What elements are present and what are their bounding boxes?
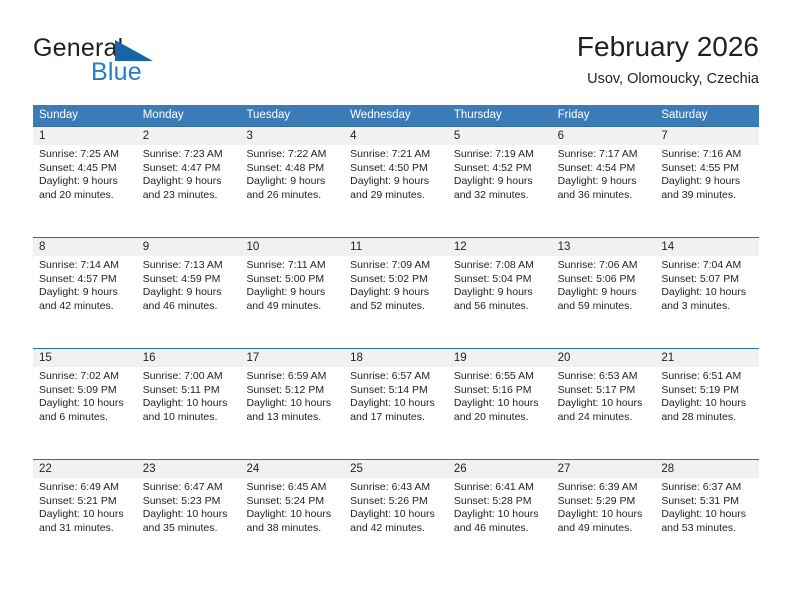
day-number: 6	[552, 127, 656, 145]
day-cell[interactable]: 3 Sunrise: 7:22 AM Sunset: 4:48 PM Dayli…	[240, 127, 344, 237]
day-details: Sunrise: 7:14 AM Sunset: 4:57 PM Dayligh…	[33, 256, 137, 313]
day-number: 23	[137, 460, 241, 478]
weekday-header-thursday: Thursday	[448, 105, 552, 126]
day-details: Sunrise: 7:02 AM Sunset: 5:09 PM Dayligh…	[33, 367, 137, 424]
daylight-text: Daylight: 9 hours and 49 minutes.	[246, 286, 338, 313]
day-number: 10	[240, 238, 344, 256]
day-cell[interactable]: 18 Sunrise: 6:57 AM Sunset: 5:14 PM Dayl…	[344, 349, 448, 459]
sunset-text: Sunset: 5:16 PM	[454, 384, 546, 398]
weekday-header-monday: Monday	[137, 105, 241, 126]
day-cell[interactable]: 13 Sunrise: 7:06 AM Sunset: 5:06 PM Dayl…	[552, 238, 656, 348]
day-number: 2	[137, 127, 241, 145]
day-number: 1	[33, 127, 137, 145]
sunrise-text: Sunrise: 6:49 AM	[39, 481, 131, 495]
day-details: Sunrise: 6:45 AM Sunset: 5:24 PM Dayligh…	[240, 478, 344, 535]
day-number: 3	[240, 127, 344, 145]
day-cell[interactable]: 27 Sunrise: 6:39 AM Sunset: 5:29 PM Dayl…	[552, 460, 656, 570]
day-cell[interactable]: 17 Sunrise: 6:59 AM Sunset: 5:12 PM Dayl…	[240, 349, 344, 459]
day-cell[interactable]: 28 Sunrise: 6:37 AM Sunset: 5:31 PM Dayl…	[655, 460, 759, 570]
day-cell[interactable]: 4 Sunrise: 7:21 AM Sunset: 4:50 PM Dayli…	[344, 127, 448, 237]
week-row: 22 Sunrise: 6:49 AM Sunset: 5:21 PM Dayl…	[33, 459, 759, 570]
day-cell[interactable]: 1 Sunrise: 7:25 AM Sunset: 4:45 PM Dayli…	[33, 127, 137, 237]
sunrise-text: Sunrise: 7:09 AM	[350, 259, 442, 273]
day-number: 5	[448, 127, 552, 145]
page-header: General Blue February 2026 Usov, Olomouc…	[33, 30, 759, 100]
sunset-text: Sunset: 5:26 PM	[350, 495, 442, 509]
daylight-text: Daylight: 10 hours and 38 minutes.	[246, 508, 338, 535]
daylight-text: Daylight: 10 hours and 13 minutes.	[246, 397, 338, 424]
daylight-text: Daylight: 9 hours and 56 minutes.	[454, 286, 546, 313]
sunrise-text: Sunrise: 6:51 AM	[661, 370, 753, 384]
sunset-text: Sunset: 5:17 PM	[558, 384, 650, 398]
day-details: Sunrise: 7:00 AM Sunset: 5:11 PM Dayligh…	[137, 367, 241, 424]
daylight-text: Daylight: 10 hours and 3 minutes.	[661, 286, 753, 313]
day-number: 13	[552, 238, 656, 256]
day-number: 28	[655, 460, 759, 478]
day-details: Sunrise: 7:21 AM Sunset: 4:50 PM Dayligh…	[344, 145, 448, 202]
day-details: Sunrise: 6:41 AM Sunset: 5:28 PM Dayligh…	[448, 478, 552, 535]
sunrise-text: Sunrise: 7:13 AM	[143, 259, 235, 273]
sunrise-text: Sunrise: 7:11 AM	[246, 259, 338, 273]
day-number: 18	[344, 349, 448, 367]
sunrise-text: Sunrise: 7:17 AM	[558, 148, 650, 162]
week-row: 15 Sunrise: 7:02 AM Sunset: 5:09 PM Dayl…	[33, 348, 759, 459]
sunset-text: Sunset: 4:54 PM	[558, 162, 650, 176]
week-row: 8 Sunrise: 7:14 AM Sunset: 4:57 PM Dayli…	[33, 237, 759, 348]
daylight-text: Daylight: 9 hours and 20 minutes.	[39, 175, 131, 202]
sunset-text: Sunset: 4:52 PM	[454, 162, 546, 176]
calendar-page: General Blue February 2026 Usov, Olomouc…	[0, 0, 792, 612]
day-cell[interactable]: 9 Sunrise: 7:13 AM Sunset: 4:59 PM Dayli…	[137, 238, 241, 348]
brand-logo[interactable]: General Blue	[33, 34, 253, 90]
day-details: Sunrise: 7:23 AM Sunset: 4:47 PM Dayligh…	[137, 145, 241, 202]
sunrise-text: Sunrise: 7:14 AM	[39, 259, 131, 273]
sunset-text: Sunset: 5:28 PM	[454, 495, 546, 509]
day-cell[interactable]: 6 Sunrise: 7:17 AM Sunset: 4:54 PM Dayli…	[552, 127, 656, 237]
day-number: 26	[448, 460, 552, 478]
day-details: Sunrise: 7:22 AM Sunset: 4:48 PM Dayligh…	[240, 145, 344, 202]
sunrise-text: Sunrise: 7:23 AM	[143, 148, 235, 162]
sunset-text: Sunset: 5:29 PM	[558, 495, 650, 509]
week-row: 1 Sunrise: 7:25 AM Sunset: 4:45 PM Dayli…	[33, 126, 759, 237]
day-number: 11	[344, 238, 448, 256]
day-number: 19	[448, 349, 552, 367]
day-details: Sunrise: 6:57 AM Sunset: 5:14 PM Dayligh…	[344, 367, 448, 424]
daylight-text: Daylight: 9 hours and 29 minutes.	[350, 175, 442, 202]
daylight-text: Daylight: 10 hours and 46 minutes.	[454, 508, 546, 535]
day-number: 12	[448, 238, 552, 256]
day-cell[interactable]: 25 Sunrise: 6:43 AM Sunset: 5:26 PM Dayl…	[344, 460, 448, 570]
sunrise-text: Sunrise: 7:19 AM	[454, 148, 546, 162]
day-details: Sunrise: 6:53 AM Sunset: 5:17 PM Dayligh…	[552, 367, 656, 424]
sunrise-text: Sunrise: 6:53 AM	[558, 370, 650, 384]
daylight-text: Daylight: 10 hours and 24 minutes.	[558, 397, 650, 424]
sunrise-text: Sunrise: 6:43 AM	[350, 481, 442, 495]
day-details: Sunrise: 7:08 AM Sunset: 5:04 PM Dayligh…	[448, 256, 552, 313]
sunrise-text: Sunrise: 6:39 AM	[558, 481, 650, 495]
day-details: Sunrise: 6:49 AM Sunset: 5:21 PM Dayligh…	[33, 478, 137, 535]
sunset-text: Sunset: 5:21 PM	[39, 495, 131, 509]
sunrise-text: Sunrise: 7:00 AM	[143, 370, 235, 384]
daylight-text: Daylight: 9 hours and 42 minutes.	[39, 286, 131, 313]
day-cell[interactable]: 23 Sunrise: 6:47 AM Sunset: 5:23 PM Dayl…	[137, 460, 241, 570]
day-number: 27	[552, 460, 656, 478]
daylight-text: Daylight: 10 hours and 53 minutes.	[661, 508, 753, 535]
sunrise-text: Sunrise: 6:55 AM	[454, 370, 546, 384]
day-details: Sunrise: 6:55 AM Sunset: 5:16 PM Dayligh…	[448, 367, 552, 424]
sunrise-text: Sunrise: 6:41 AM	[454, 481, 546, 495]
daylight-text: Daylight: 9 hours and 32 minutes.	[454, 175, 546, 202]
daylight-text: Daylight: 9 hours and 52 minutes.	[350, 286, 442, 313]
day-number: 21	[655, 349, 759, 367]
sunset-text: Sunset: 4:59 PM	[143, 273, 235, 287]
sunrise-text: Sunrise: 7:02 AM	[39, 370, 131, 384]
weekday-header-row: Sunday Monday Tuesday Wednesday Thursday…	[33, 105, 759, 126]
day-number: 4	[344, 127, 448, 145]
sunset-text: Sunset: 5:02 PM	[350, 273, 442, 287]
sunset-text: Sunset: 5:00 PM	[246, 273, 338, 287]
day-number: 22	[33, 460, 137, 478]
sunset-text: Sunset: 5:19 PM	[661, 384, 753, 398]
day-details: Sunrise: 7:11 AM Sunset: 5:00 PM Dayligh…	[240, 256, 344, 313]
sunset-text: Sunset: 5:24 PM	[246, 495, 338, 509]
sunset-text: Sunset: 5:12 PM	[246, 384, 338, 398]
day-details: Sunrise: 6:37 AM Sunset: 5:31 PM Dayligh…	[655, 478, 759, 535]
day-details: Sunrise: 7:09 AM Sunset: 5:02 PM Dayligh…	[344, 256, 448, 313]
daylight-text: Daylight: 9 hours and 26 minutes.	[246, 175, 338, 202]
day-cell[interactable]: 5 Sunrise: 7:19 AM Sunset: 4:52 PM Dayli…	[448, 127, 552, 237]
sunset-text: Sunset: 4:45 PM	[39, 162, 131, 176]
day-cell[interactable]: 26 Sunrise: 6:41 AM Sunset: 5:28 PM Dayl…	[448, 460, 552, 570]
sunrise-text: Sunrise: 7:22 AM	[246, 148, 338, 162]
day-number: 24	[240, 460, 344, 478]
sunset-text: Sunset: 5:07 PM	[661, 273, 753, 287]
day-number: 8	[33, 238, 137, 256]
daylight-text: Daylight: 10 hours and 28 minutes.	[661, 397, 753, 424]
sunset-text: Sunset: 5:11 PM	[143, 384, 235, 398]
title-block: February 2026 Usov, Olomoucky, Czechia	[577, 30, 759, 88]
day-number: 25	[344, 460, 448, 478]
sunrise-text: Sunrise: 7:06 AM	[558, 259, 650, 273]
day-cell[interactable]: 12 Sunrise: 7:08 AM Sunset: 5:04 PM Dayl…	[448, 238, 552, 348]
weekday-header-friday: Friday	[552, 105, 656, 126]
day-cell[interactable]: 22 Sunrise: 6:49 AM Sunset: 5:21 PM Dayl…	[33, 460, 137, 570]
day-cell[interactable]: 11 Sunrise: 7:09 AM Sunset: 5:02 PM Dayl…	[344, 238, 448, 348]
sunrise-text: Sunrise: 6:45 AM	[246, 481, 338, 495]
weekday-header-saturday: Saturday	[655, 105, 759, 126]
day-cell[interactable]: 20 Sunrise: 6:53 AM Sunset: 5:17 PM Dayl…	[552, 349, 656, 459]
day-number: 16	[137, 349, 241, 367]
day-details: Sunrise: 6:59 AM Sunset: 5:12 PM Dayligh…	[240, 367, 344, 424]
sunrise-text: Sunrise: 7:25 AM	[39, 148, 131, 162]
daylight-text: Daylight: 10 hours and 20 minutes.	[454, 397, 546, 424]
daylight-text: Daylight: 10 hours and 42 minutes.	[350, 508, 442, 535]
day-cell[interactable]: 10 Sunrise: 7:11 AM Sunset: 5:00 PM Dayl…	[240, 238, 344, 348]
sunrise-text: Sunrise: 7:08 AM	[454, 259, 546, 273]
daylight-text: Daylight: 10 hours and 10 minutes.	[143, 397, 235, 424]
location-subtitle: Usov, Olomoucky, Czechia	[577, 70, 759, 88]
sunrise-text: Sunrise: 6:57 AM	[350, 370, 442, 384]
sunrise-text: Sunrise: 7:16 AM	[661, 148, 753, 162]
day-number: 20	[552, 349, 656, 367]
weekday-header-wednesday: Wednesday	[344, 105, 448, 126]
daylight-text: Daylight: 9 hours and 36 minutes.	[558, 175, 650, 202]
calendar-grid: Sunday Monday Tuesday Wednesday Thursday…	[33, 105, 759, 570]
day-details: Sunrise: 7:13 AM Sunset: 4:59 PM Dayligh…	[137, 256, 241, 313]
day-details: Sunrise: 6:43 AM Sunset: 5:26 PM Dayligh…	[344, 478, 448, 535]
sunrise-text: Sunrise: 7:21 AM	[350, 148, 442, 162]
sunrise-text: Sunrise: 6:37 AM	[661, 481, 753, 495]
day-details: Sunrise: 6:39 AM Sunset: 5:29 PM Dayligh…	[552, 478, 656, 535]
sunset-text: Sunset: 5:23 PM	[143, 495, 235, 509]
weekday-header-tuesday: Tuesday	[240, 105, 344, 126]
day-details: Sunrise: 7:17 AM Sunset: 4:54 PM Dayligh…	[552, 145, 656, 202]
sunset-text: Sunset: 5:09 PM	[39, 384, 131, 398]
day-cell[interactable]: 24 Sunrise: 6:45 AM Sunset: 5:24 PM Dayl…	[240, 460, 344, 570]
sunrise-text: Sunrise: 6:59 AM	[246, 370, 338, 384]
day-cell[interactable]: 8 Sunrise: 7:14 AM Sunset: 4:57 PM Dayli…	[33, 238, 137, 348]
day-cell[interactable]: 2 Sunrise: 7:23 AM Sunset: 4:47 PM Dayli…	[137, 127, 241, 237]
sunset-text: Sunset: 5:06 PM	[558, 273, 650, 287]
day-details: Sunrise: 7:19 AM Sunset: 4:52 PM Dayligh…	[448, 145, 552, 202]
daylight-text: Daylight: 9 hours and 23 minutes.	[143, 175, 235, 202]
daylight-text: Daylight: 10 hours and 49 minutes.	[558, 508, 650, 535]
daylight-text: Daylight: 9 hours and 46 minutes.	[143, 286, 235, 313]
page-title: February 2026	[577, 30, 759, 64]
day-cell[interactable]: 21 Sunrise: 6:51 AM Sunset: 5:19 PM Dayl…	[655, 349, 759, 459]
day-cell[interactable]: 16 Sunrise: 7:00 AM Sunset: 5:11 PM Dayl…	[137, 349, 241, 459]
daylight-text: Daylight: 10 hours and 35 minutes.	[143, 508, 235, 535]
day-number: 14	[655, 238, 759, 256]
daylight-text: Daylight: 10 hours and 17 minutes.	[350, 397, 442, 424]
day-cell[interactable]: 19 Sunrise: 6:55 AM Sunset: 5:16 PM Dayl…	[448, 349, 552, 459]
day-details: Sunrise: 6:47 AM Sunset: 5:23 PM Dayligh…	[137, 478, 241, 535]
sunset-text: Sunset: 4:48 PM	[246, 162, 338, 176]
day-details: Sunrise: 7:16 AM Sunset: 4:55 PM Dayligh…	[655, 145, 759, 202]
sunset-text: Sunset: 4:50 PM	[350, 162, 442, 176]
sunset-text: Sunset: 4:57 PM	[39, 273, 131, 287]
day-number: 15	[33, 349, 137, 367]
day-details: Sunrise: 7:04 AM Sunset: 5:07 PM Dayligh…	[655, 256, 759, 313]
brand-name-blue: Blue	[91, 58, 142, 86]
sunrise-text: Sunrise: 7:04 AM	[661, 259, 753, 273]
sunrise-text: Sunrise: 6:47 AM	[143, 481, 235, 495]
day-cell[interactable]: 7 Sunrise: 7:16 AM Sunset: 4:55 PM Dayli…	[655, 127, 759, 237]
day-details: Sunrise: 6:51 AM Sunset: 5:19 PM Dayligh…	[655, 367, 759, 424]
daylight-text: Daylight: 9 hours and 59 minutes.	[558, 286, 650, 313]
day-number: 9	[137, 238, 241, 256]
day-cell[interactable]: 15 Sunrise: 7:02 AM Sunset: 5:09 PM Dayl…	[33, 349, 137, 459]
weekday-header-sunday: Sunday	[33, 105, 137, 126]
daylight-text: Daylight: 10 hours and 6 minutes.	[39, 397, 131, 424]
daylight-text: Daylight: 10 hours and 31 minutes.	[39, 508, 131, 535]
day-number: 17	[240, 349, 344, 367]
sunset-text: Sunset: 5:31 PM	[661, 495, 753, 509]
daylight-text: Daylight: 9 hours and 39 minutes.	[661, 175, 753, 202]
day-details: Sunrise: 7:25 AM Sunset: 4:45 PM Dayligh…	[33, 145, 137, 202]
sunset-text: Sunset: 5:14 PM	[350, 384, 442, 398]
sunset-text: Sunset: 4:55 PM	[661, 162, 753, 176]
sunset-text: Sunset: 5:04 PM	[454, 273, 546, 287]
day-number: 7	[655, 127, 759, 145]
sunset-text: Sunset: 4:47 PM	[143, 162, 235, 176]
day-cell[interactable]: 14 Sunrise: 7:04 AM Sunset: 5:07 PM Dayl…	[655, 238, 759, 348]
day-details: Sunrise: 7:06 AM Sunset: 5:06 PM Dayligh…	[552, 256, 656, 313]
